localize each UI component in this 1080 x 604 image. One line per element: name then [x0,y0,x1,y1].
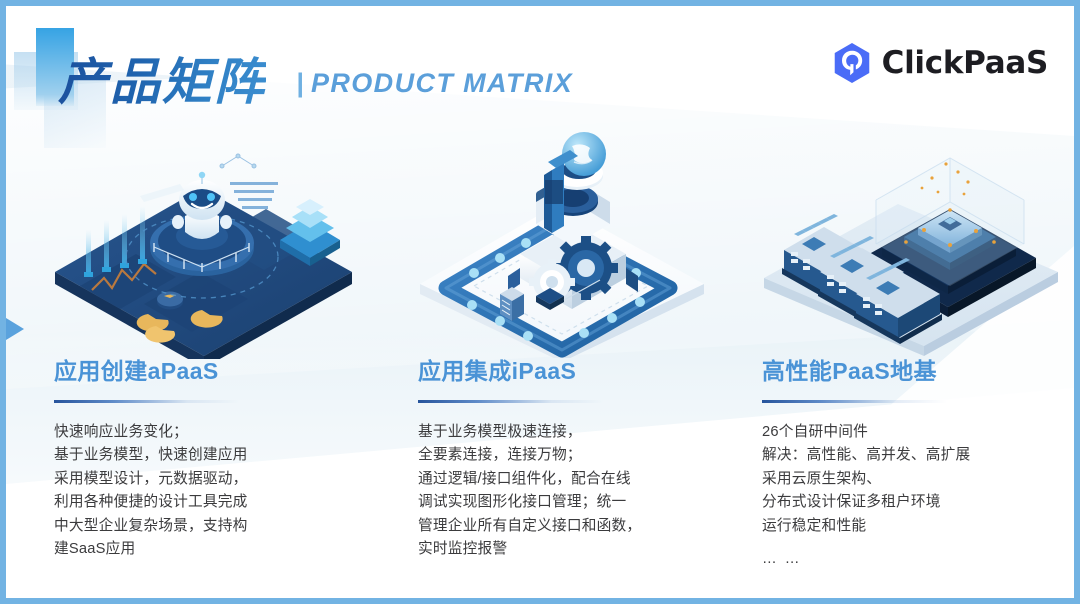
feature-column-ipaas: 应用集成iPaaS 基于业务模型极速连接， 全要素连接，连接万物； 通过逻辑/接… [418,358,748,562]
page-subtitle: |PRODUCT MATRIX [296,68,573,99]
column-divider [54,400,239,403]
feature-column-apaas: 应用创建aPaaS 快速响应业务变化； 基于业务模型，快速创建应用 采用模型设计… [54,358,384,562]
feature-columns: 应用创建aPaaS 快速响应业务变化； 基于业务模型，快速创建应用 采用模型设计… [6,358,1074,604]
slide-header: 产品矩阵 |PRODUCT MATRIX ClickPaaS [6,6,1074,134]
illustration-row [6,126,1074,356]
ipaas-conveyor-globe-illustration [412,128,722,358]
apaas-robot-dashboard-illustration [52,144,362,359]
brand-logo[interactable]: ClickPaaS [832,42,1048,84]
body-line: 实时监控报警 [418,538,748,562]
subtitle-bar-glyph: | [296,68,305,98]
column-heading: 应用集成iPaaS [418,358,748,386]
body-line: 运行稳定和性能 [762,515,1080,539]
body-line: 通过逻辑/接口组件化，配合在线 [418,468,748,492]
column-body: 快速响应业务变化； 基于业务模型，快速创建应用 采用模型设计，元数据驱动， 利用… [54,421,384,562]
feature-column-paas: 高性能PaaS地基 26个自研中间件 解决：高性能、高并发、高扩展 采用云原生架… [762,358,1080,572]
body-line: 基于业务模型极速连接， [418,421,748,445]
subtitle-text: PRODUCT MATRIX [311,68,573,98]
body-line: 中大型企业复杂场景，支持构 [54,515,384,539]
column-heading: 应用创建aPaaS [54,358,384,386]
clickpaas-hexagon-logo-icon [832,42,872,84]
body-line: 分布式设计保证多租户环境 [762,491,1080,515]
column-body: 26个自研中间件 解决：高性能、高并发、高扩展 采用云原生架构、 分布式设计保证… [762,421,1080,572]
body-line: 快速响应业务变化； [54,421,384,445]
column-body: 基于业务模型极速连接， 全要素连接，连接万物； 通过逻辑/接口组件化，配合在线 … [418,421,748,562]
body-line: 全要素连接，连接万物； [418,444,748,468]
body-ellipsis: … … [762,548,1080,572]
column-divider [418,400,603,403]
body-line: 利用各种便捷的设计工具完成 [54,491,384,515]
body-line: 采用模型设计，元数据驱动， [54,468,384,492]
column-divider [762,400,947,403]
body-line: 采用云原生架构、 [762,468,1080,492]
brand-name: ClickPaaS [882,45,1048,81]
body-line: 管理企业所有自定义接口和函数， [418,515,748,539]
body-line: 解决：高性能、高并发、高扩展 [762,444,1080,468]
body-line: 26个自研中间件 [762,421,1080,445]
product-matrix-slide: 产品矩阵 |PRODUCT MATRIX ClickPaaS [0,0,1080,604]
body-line: 调试实现图形化接口管理；统一 [418,491,748,515]
paas-server-racks-pyramid-illustration [758,148,1068,358]
body-line: 基于业务模型，快速创建应用 [54,444,384,468]
page-title: 产品矩阵 [58,42,266,114]
column-heading: 高性能PaaS地基 [762,358,1080,386]
body-line: 建SaaS应用 [54,538,384,562]
